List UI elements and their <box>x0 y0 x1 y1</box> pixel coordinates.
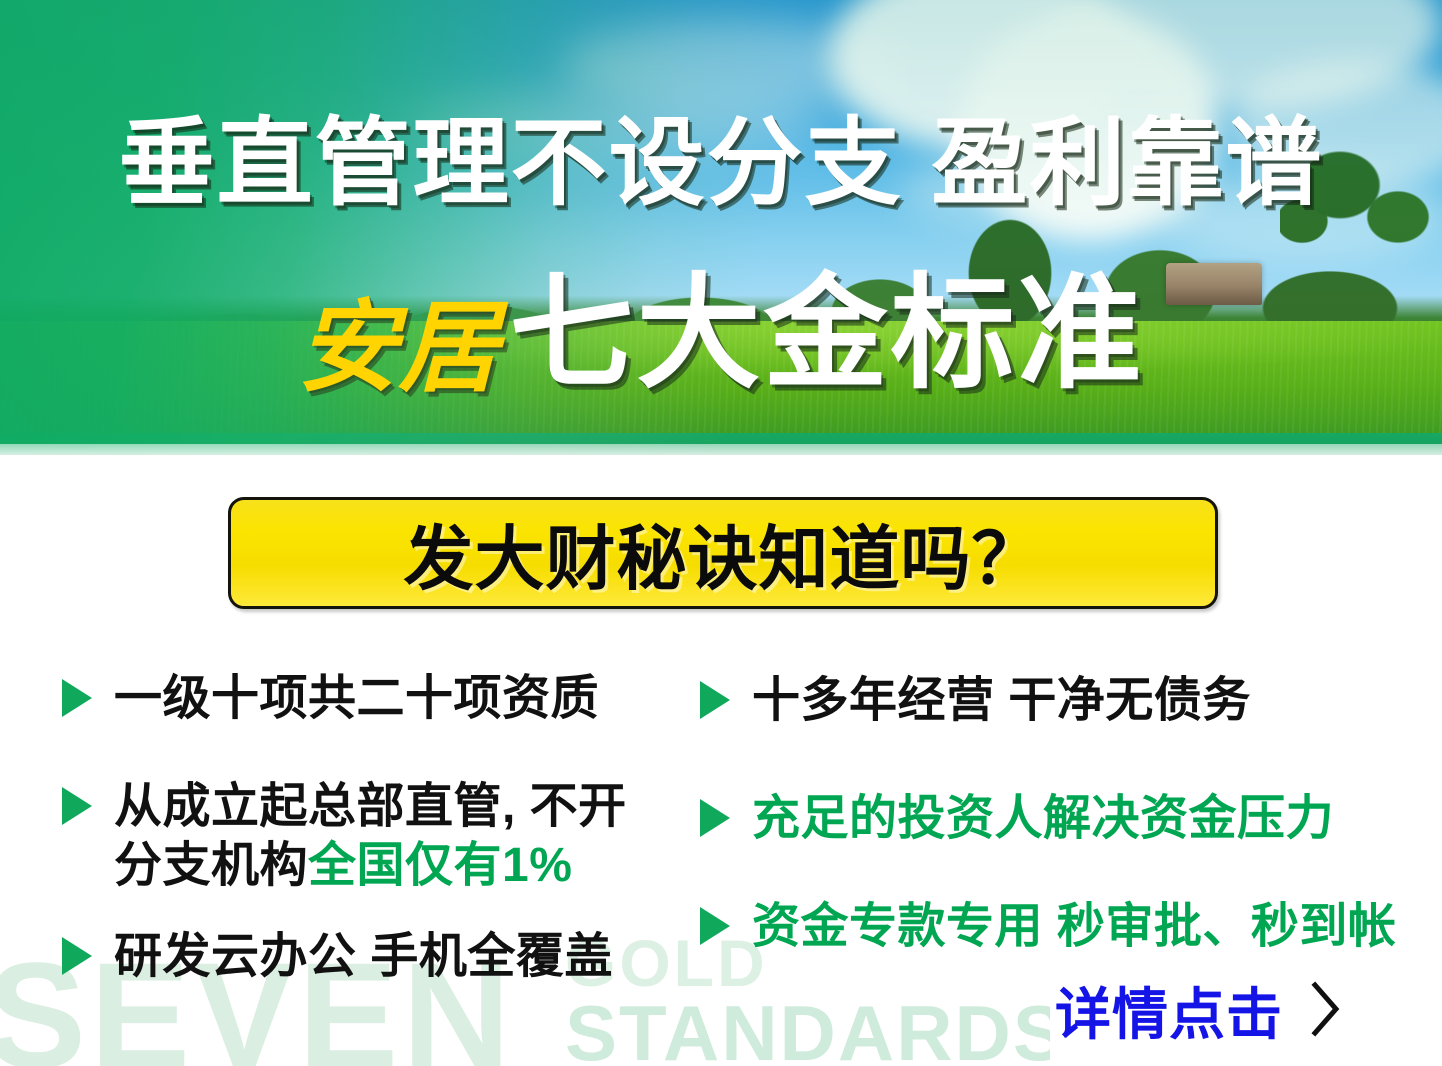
list-item-line2-highlight: 全国仅有1% <box>308 839 572 892</box>
highlight-banner[interactable]: 发大财秘诀知道吗？ <box>228 497 1218 609</box>
hero-fade-strip <box>0 444 1442 462</box>
list-item-line1: 从成立起总部直管, 不开 <box>114 780 627 833</box>
triangle-bullet-icon <box>700 799 730 837</box>
hero-subheadline-row: 安居七大金标准 <box>0 272 1442 396</box>
list-item: 从成立起总部直管, 不开分支机构全国仅有1% <box>62 778 674 895</box>
list-item: 研发云办公 手机全覆盖 <box>62 928 613 987</box>
list-item-label: 充足的投资人解决资金压力 <box>752 790 1334 849</box>
highlight-banner-text: 发大财秘诀知道吗？ <box>404 503 1043 604</box>
list-item: 资金专款专用 秒审批、秒到帐 <box>700 898 1396 957</box>
list-item: 充足的投资人解决资金压力 <box>700 790 1334 849</box>
triangle-bullet-icon <box>62 679 92 717</box>
details-cta-label: 详情点击 <box>1055 970 1283 1051</box>
promo-poster: 垂直管理不设分支 盈利靠谱 安居七大金标准 发大财秘诀知道吗？ SEVEN GO… <box>0 0 1442 1066</box>
details-cta-button[interactable]: 详情点击 <box>1055 970 1343 1051</box>
list-item-line2-plain: 分支机构 <box>114 839 308 892</box>
triangle-bullet-icon <box>700 681 730 719</box>
list-item-label: 从成立起总部直管, 不开分支机构全国仅有1% <box>114 778 674 895</box>
triangle-bullet-icon <box>62 787 92 825</box>
list-item: 十多年经营 干净无债务 <box>700 672 1251 731</box>
list-item-label: 一级十项共二十项资质 <box>114 670 599 729</box>
list-item-label: 研发云办公 手机全覆盖 <box>114 928 613 987</box>
triangle-bullet-icon <box>700 907 730 945</box>
hero-headline: 垂直管理不设分支 盈利靠谱 <box>0 114 1442 215</box>
list-item: 一级十项共二十项资质 <box>62 670 599 729</box>
list-item-line2: 分支机构全国仅有1% <box>114 837 674 896</box>
triangle-bullet-icon <box>62 937 92 975</box>
hero-brand-name: 安居 <box>297 298 499 398</box>
list-item-label: 资金专款专用 秒审批、秒到帐 <box>752 898 1396 957</box>
chevron-right-icon <box>1309 979 1343 1044</box>
hero-banner: 垂直管理不设分支 盈利靠谱 安居七大金标准 <box>0 0 1442 455</box>
feature-list: 一级十项共二十项资质 从成立起总部直管, 不开分支机构全国仅有1% 研发云办公 … <box>0 650 1442 1000</box>
hero-subheadline: 七大金标准 <box>509 272 1144 396</box>
list-item-label: 十多年经营 干净无债务 <box>752 672 1251 731</box>
watermark-standards: STANDARDS <box>565 994 1050 1066</box>
